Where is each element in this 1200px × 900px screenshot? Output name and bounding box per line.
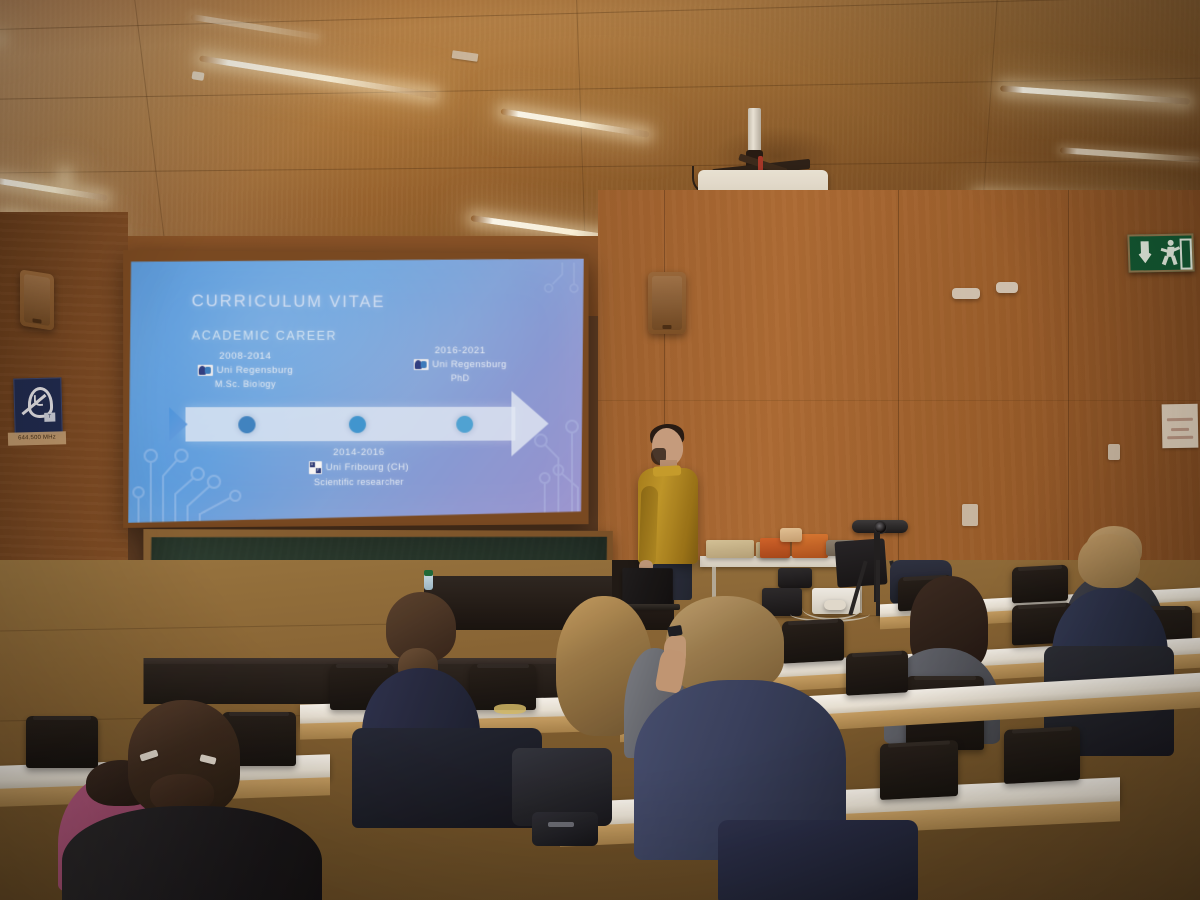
chair (782, 618, 844, 663)
arrow-head (1137, 252, 1153, 263)
hearing-loop-sign: T (13, 377, 62, 434)
slide-title: CURRICULUM VITAE (192, 292, 386, 312)
timeline-years: 2008-2014 (169, 351, 321, 362)
chair (470, 664, 536, 710)
timeline-item-1: 2014-2016 UF Uni Fribourg (CH) Scientifi… (279, 447, 439, 488)
timeline-institution-row: Uni Regensburg (386, 359, 534, 370)
bag-label (548, 822, 574, 827)
timeline-marker (349, 416, 366, 433)
exit-door-icon (1180, 238, 1193, 269)
presenter-laptop-screen (622, 568, 672, 607)
emergency-exit-sign (1127, 233, 1194, 272)
wall-socket (1108, 444, 1120, 460)
presenter-arm (639, 486, 659, 567)
uni-fribourg-logo-icon: UF (309, 461, 322, 474)
uni-regensburg-logo-icon (413, 359, 428, 370)
wall-paper-notice (1162, 404, 1199, 449)
person-head (1168, 240, 1174, 246)
person-leg (1162, 256, 1169, 266)
chair (1004, 726, 1080, 784)
timeline-years: 2014-2016 (279, 447, 439, 459)
hearing-loop-frequency-label: 644.500 MHz (8, 431, 66, 446)
timeline-institution: Uni Fribourg (CH) (326, 462, 409, 473)
timeline-role: Scientific researcher (279, 477, 439, 488)
lecture-hall-photo: EPSON (0, 0, 1200, 900)
timeline-marker (456, 416, 473, 433)
timeline-marker (238, 416, 255, 433)
timeline-institution: Uni Regensburg (432, 359, 507, 370)
projection-screen: CURRICULUM VITAE ACADEMIC CAREER 2008-20… (128, 255, 583, 523)
timeline-role: M.Sc. Biology (169, 379, 321, 389)
uni-regensburg-logo-icon (197, 365, 212, 376)
chair (1012, 565, 1068, 604)
desk-snack (494, 704, 526, 714)
smoke-detector (996, 282, 1018, 293)
timeline-item-2: 2016-2021 Uni Regensburg PhD (386, 345, 534, 383)
chair (846, 650, 908, 695)
slide-subtitle: ACADEMIC CAREER (192, 328, 337, 343)
student-hair (1078, 534, 1140, 588)
wall-speaker-right (648, 272, 686, 334)
black-device (778, 568, 812, 588)
timeline-item-0: 2008-2014 Uni Regensburg M.Sc. Biology (169, 351, 321, 389)
timeline-arrow-head (511, 391, 548, 456)
laptop-bag (532, 812, 598, 846)
presenter-collar (653, 465, 681, 476)
speaker-grill (652, 276, 682, 330)
timeline-years: 2016-2021 (386, 345, 534, 356)
notice-text-line (1171, 428, 1189, 431)
wall-socket (962, 504, 978, 526)
wall-speaker-left (20, 269, 54, 330)
smoke-detector (952, 288, 980, 299)
speaker-logo (663, 325, 672, 329)
hearing-t-badge: T (44, 413, 55, 422)
timeline-institution-row: Uni Regensburg (169, 365, 321, 376)
chair (26, 716, 98, 768)
circuit-decoration-top-right (521, 262, 580, 318)
notice-text-line (1167, 436, 1193, 439)
notice-text-line (1167, 418, 1193, 421)
person-leg (1171, 255, 1178, 265)
student-top (62, 806, 322, 900)
draped-coat (718, 820, 918, 900)
wall-seam (598, 400, 1200, 401)
timeline-institution-row: UF Uni Fribourg (CH) (279, 461, 439, 475)
bottle-cap (424, 570, 433, 576)
chair (880, 740, 958, 800)
cardboard-box (706, 540, 754, 558)
paper-bag (780, 528, 802, 542)
timeline-role: PhD (386, 373, 534, 383)
projector-pole (748, 108, 761, 156)
ceiling-light-cap (191, 71, 204, 81)
timeline-institution: Uni Regensburg (217, 365, 293, 376)
